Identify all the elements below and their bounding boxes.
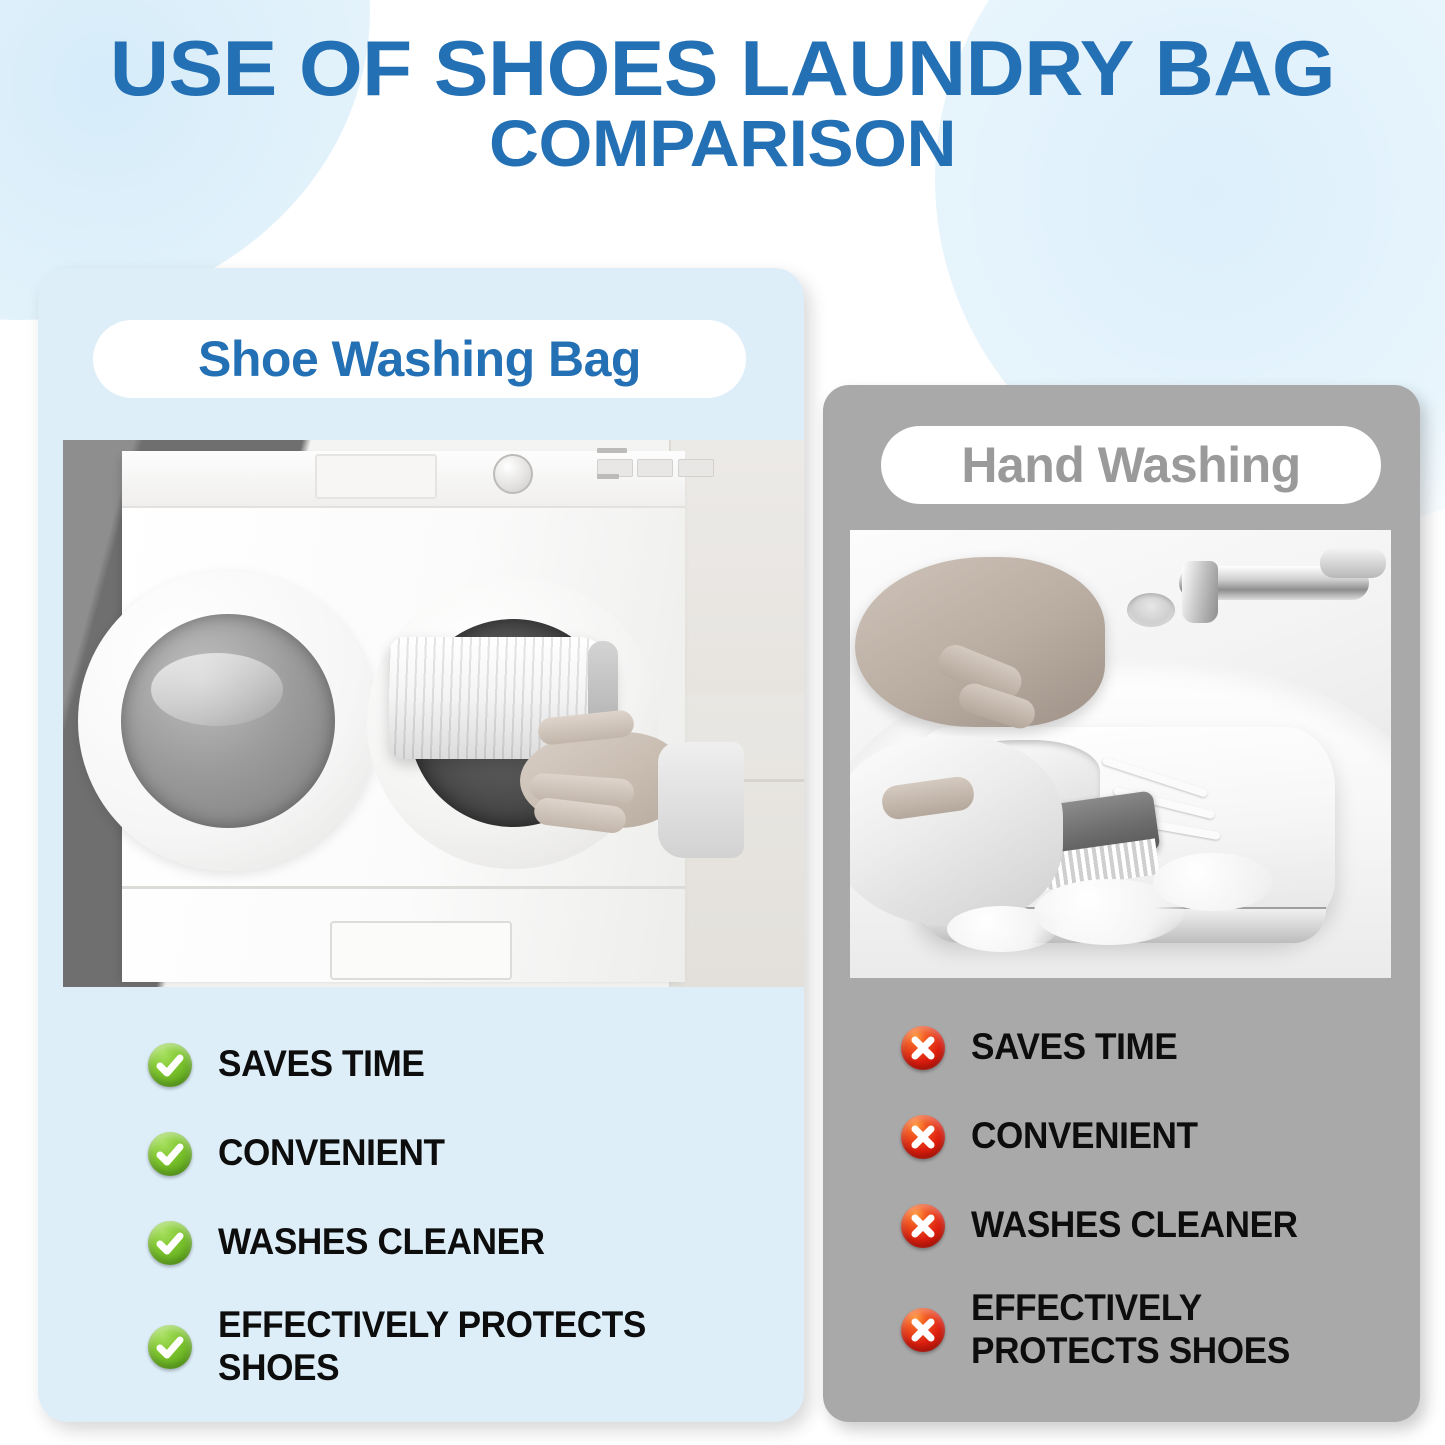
cross-icon	[901, 1026, 945, 1070]
title-line-2: COMPARISON	[0, 109, 1445, 178]
feature-row: SAVES TIME	[901, 1003, 1401, 1092]
comparison-panel-hand-washing: Hand Washing	[823, 385, 1420, 1422]
feature-label: WASHES CLEANER	[971, 1204, 1298, 1247]
cross-icon	[901, 1308, 945, 1352]
cross-icon	[901, 1115, 945, 1159]
feature-list-shoe-washing-bag: SAVES TIME CONVENIENT WASHES CLEANER EFF…	[148, 1020, 808, 1407]
feature-label: WASHES CLEANER	[218, 1221, 545, 1264]
feature-label: CONVENIENT	[218, 1132, 445, 1175]
page-title: USE OF SHOES LAUNDRY BAG COMPARISON	[0, 28, 1445, 178]
feature-label: EFFECTIVELY PROTECTS SHOES	[218, 1304, 722, 1390]
feature-row: WASHES CLEANER	[148, 1198, 808, 1287]
check-icon	[148, 1043, 192, 1087]
panel-label-hand-washing: Hand Washing	[881, 426, 1381, 504]
washing-machine-with-shoe-bag-photo	[63, 440, 804, 987]
feature-row: WASHES CLEANER	[901, 1181, 1401, 1270]
feature-row: EFFECTIVELY PROTECTS SHOES	[901, 1270, 1401, 1390]
hand-scrubbing-shoe-in-sink-photo	[850, 530, 1391, 978]
feature-row: EFFECTIVELY PROTECTS SHOES	[148, 1287, 808, 1407]
panel-label-hand-washing-text: Hand Washing	[961, 436, 1300, 494]
title-line-1: USE OF SHOES LAUNDRY BAG	[0, 28, 1445, 109]
feature-label: EFFECTIVELY PROTECTS SHOES	[971, 1287, 1370, 1373]
feature-label: CONVENIENT	[971, 1115, 1198, 1158]
check-icon	[148, 1325, 192, 1369]
cross-icon	[901, 1204, 945, 1248]
feature-row: CONVENIENT	[901, 1092, 1401, 1181]
check-icon	[148, 1132, 192, 1176]
panel-label-shoe-washing-bag-text: Shoe Washing Bag	[198, 330, 641, 388]
feature-label: SAVES TIME	[971, 1026, 1177, 1069]
panel-label-shoe-washing-bag: Shoe Washing Bag	[93, 320, 746, 398]
feature-list-hand-washing: SAVES TIME CONVENIENT WASHES CLEANER EFF…	[901, 1003, 1401, 1390]
feature-row: SAVES TIME	[148, 1020, 808, 1109]
comparison-panel-shoe-washing-bag: Shoe Washing Bag	[38, 268, 804, 1422]
feature-label: SAVES TIME	[218, 1043, 424, 1086]
feature-row: CONVENIENT	[148, 1109, 808, 1198]
infographic-canvas: USE OF SHOES LAUNDRY BAG COMPARISON Hand…	[0, 0, 1445, 1445]
check-icon	[148, 1221, 192, 1265]
